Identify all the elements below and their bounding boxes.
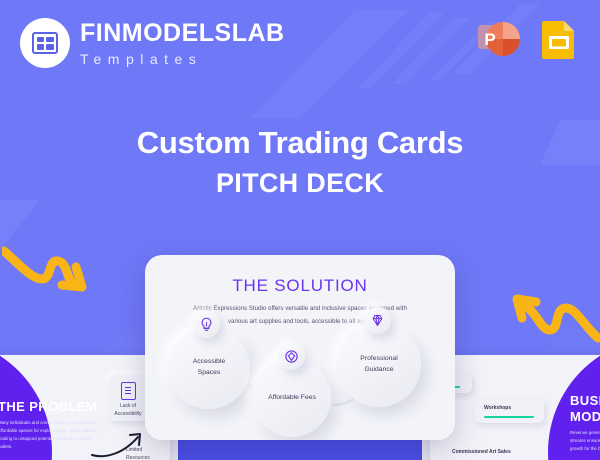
- brand-tagline: Templates: [80, 52, 285, 66]
- slide-business-model[interactable]: BUSINESS MODEL Revenue generation throug…: [430, 355, 600, 460]
- problem-card-accessibility[interactable]: Lack of Accessibility: [108, 375, 148, 421]
- powerpoint-icon[interactable]: P: [476, 16, 522, 62]
- solution-item-label: Professional: [360, 355, 397, 362]
- google-slides-icon[interactable]: [536, 16, 582, 62]
- svg-text:P: P: [484, 30, 495, 49]
- problem-title: THE PROBLEM: [0, 399, 97, 415]
- business-card-label: Workshops: [484, 405, 511, 411]
- squiggly-arrow-right-icon: [2, 245, 102, 325]
- solution-item-label: Spaces: [198, 369, 221, 376]
- business-title-line1: BUSINESS: [570, 393, 600, 409]
- progress-bar: [484, 416, 534, 418]
- problem-card-label: Lack of: [108, 403, 148, 411]
- business-card-label: Commissioned Art Sales: [452, 449, 511, 455]
- solution-item-label: Accessible: [193, 358, 226, 365]
- business-card-workshops[interactable]: Workshops: [474, 399, 544, 423]
- brand-name: FINMODELSLAB: [80, 21, 285, 46]
- grid-squares-icon: [32, 32, 58, 54]
- squiggly-arrow-up-left-icon: [500, 282, 600, 357]
- brand-text: FINMODELSLAB Templates: [80, 21, 285, 66]
- page-subtitle: PITCH DECK: [0, 168, 600, 199]
- business-body: Revenue generation through diverse strea…: [570, 429, 600, 453]
- brand-logo: FINMODELSLAB Templates: [20, 18, 285, 68]
- document-icon: [121, 382, 136, 400]
- format-icons: P: [476, 16, 582, 62]
- solution-item-professional-guidance[interactable]: Professional Guidance: [337, 323, 421, 407]
- slide-the-solution[interactable]: THE SOLUTION Artistic Expressions Studio…: [145, 255, 455, 440]
- pitch-deck-preview: FINMODELSLAB Templates P: [0, 0, 600, 460]
- business-title-line2: MODEL: [570, 409, 600, 425]
- diamond-icon: [364, 307, 391, 334]
- problem-card-label: Accessibility: [108, 411, 148, 419]
- solution-item-label: Affordable Fees: [268, 393, 316, 404]
- solution-item-label: Guidance: [364, 366, 393, 373]
- logo-circle: [20, 18, 70, 68]
- problem-body: Many individuals and communities lack ac…: [0, 419, 100, 452]
- gem-circle-icon: [278, 343, 305, 370]
- solution-item-affordable-fees[interactable]: Affordable Fees: [253, 359, 331, 437]
- problem-curve-arrow-icon: [90, 425, 150, 460]
- solution-item-accessible-spaces[interactable]: Accessible Spaces: [168, 327, 250, 409]
- page-title: Custom Trading Cards: [0, 125, 600, 161]
- lightbulb-icon: [193, 311, 220, 338]
